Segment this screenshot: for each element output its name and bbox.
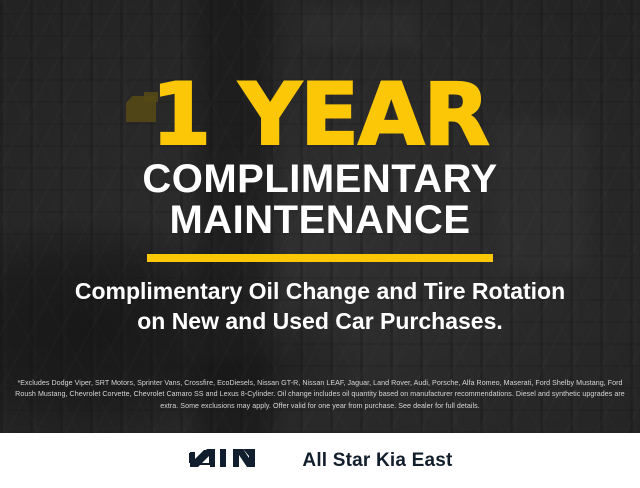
subheadline-line-1: Complimentary Oil Change and Tire Rotati… xyxy=(75,278,565,304)
subheadline-line-2: on New and Used Car Purchases. xyxy=(75,306,565,336)
headline-year: 1 YEAR xyxy=(151,79,489,153)
headline-main: COMPLIMENTARY MAINTENANCE xyxy=(142,159,497,241)
yellow-divider-bar xyxy=(147,254,493,262)
kia-logo-icon xyxy=(187,446,275,475)
hero-content: 1 YEAR COMPLIMENTARY MAINTENANCE Complim… xyxy=(0,0,640,433)
hero-section: 1 YEAR COMPLIMENTARY MAINTENANCE Complim… xyxy=(0,0,640,433)
headline-line-1: COMPLIMENTARY xyxy=(142,157,497,201)
headline-line-2: MAINTENANCE xyxy=(142,200,497,241)
subheadline: Complimentary Oil Change and Tire Rotati… xyxy=(75,276,565,337)
promotional-banner: 1 YEAR COMPLIMENTARY MAINTENANCE Complim… xyxy=(0,0,640,488)
footer-bar: All Star Kia East xyxy=(0,433,640,488)
disclaimer-text: *Excludes Dodge Viper, SRT Motors, Sprin… xyxy=(14,378,626,412)
dealer-name: All Star Kia East xyxy=(302,450,452,472)
